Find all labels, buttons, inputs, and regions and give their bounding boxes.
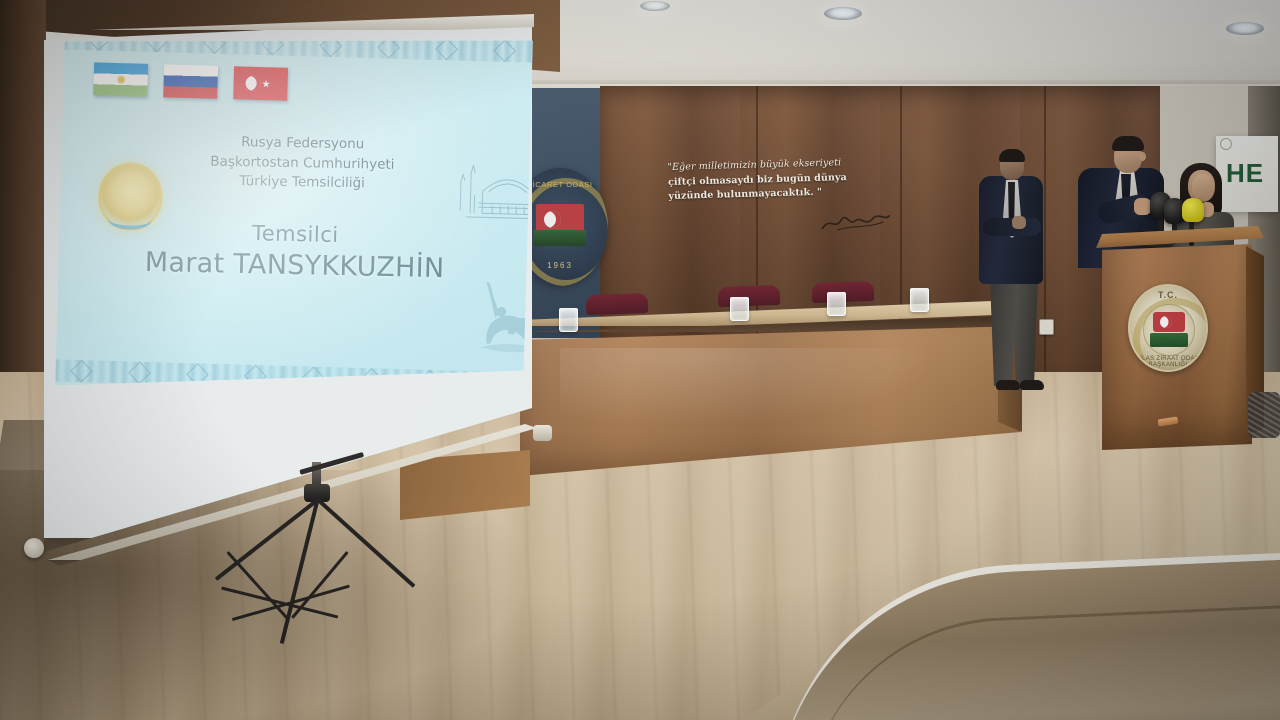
tripod-leg <box>280 498 320 645</box>
banner-grommet-icon <box>1220 138 1232 150</box>
slide-role-label: Temsilci <box>110 218 480 250</box>
speaker-ear <box>1139 152 1146 161</box>
turkey-flag-icon: ★ <box>233 66 288 100</box>
speaker-hand <box>1134 198 1151 215</box>
russia-flag-icon <box>163 64 218 98</box>
panel-chair[interactable] <box>586 293 649 315</box>
speaker-hair <box>1112 136 1144 151</box>
press-microphone[interactable] <box>1182 198 1204 222</box>
desk-highlight <box>560 348 980 438</box>
water-glass[interactable] <box>559 308 578 332</box>
screen-tripod-stand[interactable] <box>196 478 496 648</box>
tripod-brace <box>221 587 338 619</box>
slide-person-name: Marat TANSYKKUZHİN <box>109 246 480 285</box>
downlight-icon <box>1226 22 1264 35</box>
mosque-sketch-icon <box>451 150 535 243</box>
podium-emblem-top-text: T.C. <box>1130 290 1206 300</box>
conference-hall-scene: TİCARET ODASI 1963 "Eğer milletimizin bü… <box>0 0 1280 720</box>
slide-organisation-lines: Rusya Federsyonu Başkortostan Cumhurihye… <box>177 132 428 195</box>
ataturk-signature-icon <box>819 211 892 235</box>
speaker-podium: T.C. MİLAS ZİRAAT ODASI BAŞKANLIĞI <box>1096 226 1266 450</box>
slide-flag-row: ★ <box>93 62 288 100</box>
slide-title-block: Temsilci Marat TANSYKKUZHİN <box>109 218 480 285</box>
bashkortostan-flag-icon <box>93 62 148 96</box>
water-glass[interactable] <box>730 297 749 321</box>
wall-outlet-icon[interactable] <box>1039 319 1054 335</box>
podium-emblem-ring-text: MİLAS ZİRAAT ODASI BAŞKANLIĞI <box>1130 356 1206 368</box>
milas-chamber-of-agriculture-emblem: T.C. MİLAS ZİRAAT ODASI BAŞKANLIĞI <box>1128 284 1208 372</box>
screen-end-cap <box>24 538 44 558</box>
woman-face <box>1192 174 1214 201</box>
screen-tension-knob[interactable] <box>533 425 552 441</box>
screen-top-bar <box>30 14 536 30</box>
attendee-shoe <box>996 380 1020 390</box>
ceiling-soffit <box>520 0 1280 84</box>
slide-content: ★ Rusya Federsyonu Başkortostan Cumhurih… <box>51 27 535 400</box>
emblem-inner-disc <box>1143 304 1195 356</box>
attendee-hand <box>1012 216 1026 229</box>
attendee-hair <box>999 149 1025 162</box>
wall-banner: HE <box>1216 136 1278 212</box>
wall-quote: "Eğer milletimizin büyük ekseriyeti çift… <box>667 155 884 205</box>
emblem-turkish-flag-icon <box>1153 312 1185 332</box>
panel-chair[interactable] <box>718 285 781 307</box>
attendee-shoe <box>1020 380 1044 390</box>
cable-bundle <box>1248 392 1280 438</box>
banner-text: HE <box>1226 158 1264 189</box>
emblem-green-band <box>1150 333 1188 347</box>
water-glass[interactable] <box>910 288 929 312</box>
downlight-icon <box>640 1 670 11</box>
salawat-monument-sketch-icon <box>456 271 535 362</box>
water-glass[interactable] <box>827 292 846 316</box>
downlight-icon <box>824 7 862 20</box>
